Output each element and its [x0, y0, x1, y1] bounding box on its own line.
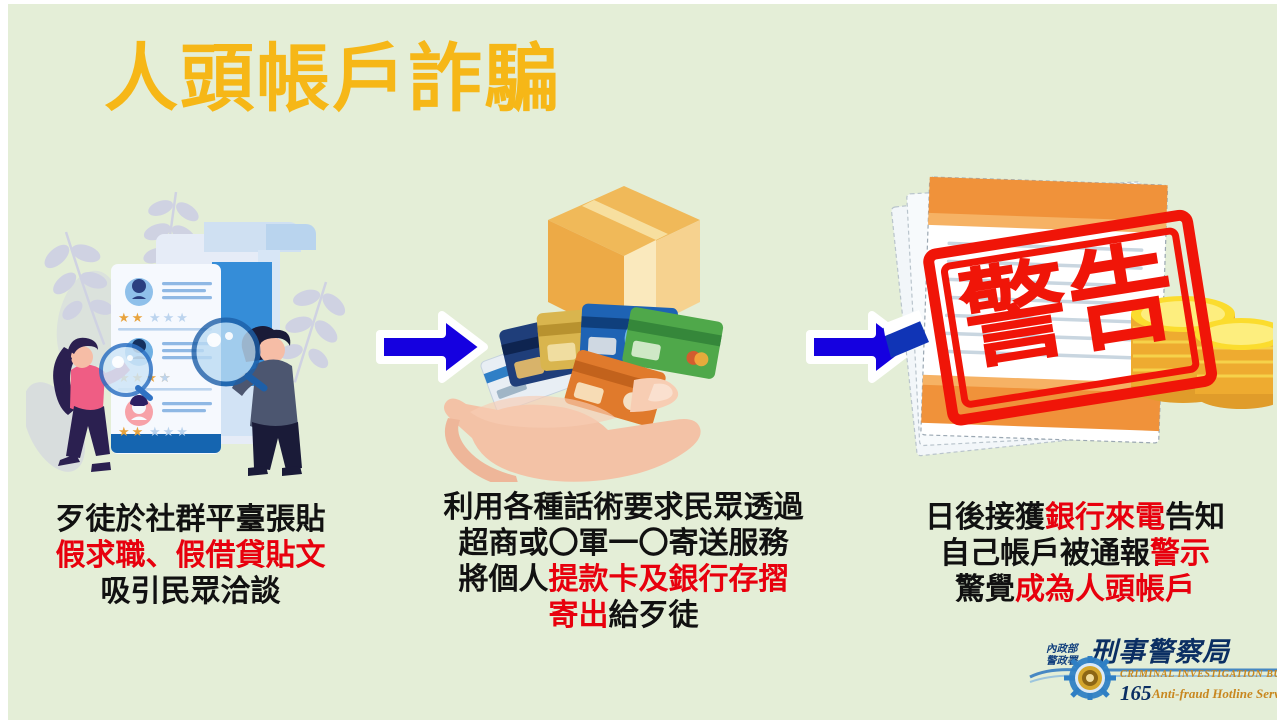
caption-line: 日後接獲銀行來電告知	[880, 500, 1270, 536]
star-rating-3: ★★ ★★★	[118, 424, 190, 439]
step-2-illustration	[428, 172, 818, 482]
logo-agency-main: 刑事警察局	[1089, 637, 1231, 668]
caption-line: 超商或〇軍一〇寄送服務	[406, 526, 841, 562]
step-3-caption: 日後接獲銀行來電告知 自己帳戶被通報警示 驚覺成為人頭帳戶	[880, 500, 1270, 608]
page-title: 人頭帳戶詐騙	[104, 37, 560, 121]
svg-text:★★: ★★	[118, 424, 145, 439]
social-media-review-illustration: ★★ ★★★ ★★★★ ★	[26, 172, 366, 482]
caption-line: 假求職、假借貸貼文	[18, 538, 363, 574]
caption-line: 歹徒於社群平臺張貼	[18, 502, 363, 538]
warning-stamp-documents-illustration: 警告	[883, 172, 1273, 472]
caption-line: 吸引民眾洽談	[18, 574, 363, 610]
slide-canvas: 人頭帳戶詐騙	[0, 0, 1280, 720]
cib-logo: 內政部 警政署 刑事警察局 CRIMINAL INVESTIGATION BUR…	[1028, 632, 1280, 714]
logo-agency-line1: 內政部	[1046, 642, 1080, 655]
step-1-illustration: ★★ ★★★ ★★★★ ★	[26, 172, 366, 482]
svg-text:★★★: ★★★	[149, 310, 190, 325]
logo-hotline-number: 165	[1120, 681, 1152, 705]
logo-hotline-text: Anti-fraud Hotline Service	[1151, 686, 1280, 701]
criminal-investigation-bureau-logo: 內政部 警政署 刑事警察局 CRIMINAL INVESTIGATION BUR…	[1028, 632, 1280, 714]
caption-line: 自己帳戶被通報警示	[880, 536, 1270, 572]
star-rating-1: ★★ ★★★	[118, 310, 190, 325]
caption-line: 驚覺成為人頭帳戶	[880, 572, 1270, 608]
magnifier-icon	[101, 345, 151, 398]
step-3-illustration: 警告	[883, 172, 1273, 472]
step-2-caption: 利用各種話術要求民眾透過 超商或〇軍一〇寄送服務 將個人提款卡及銀行存摺 寄出給…	[406, 490, 841, 634]
parcel-and-cards-illustration	[428, 172, 818, 482]
step-1-caption: 歹徒於社群平臺張貼 假求職、假借貸貼文 吸引民眾洽談	[18, 502, 363, 610]
svg-text:★★★: ★★★	[149, 424, 190, 439]
caption-line: 寄出給歹徒	[406, 598, 841, 634]
caption-line: 將個人提款卡及銀行存摺	[406, 562, 841, 598]
logo-agency-english: CRIMINAL INVESTIGATION BUREAU	[1120, 669, 1280, 680]
caption-line: 利用各種話術要求民眾透過	[406, 490, 841, 526]
svg-text:★: ★	[159, 370, 171, 385]
police-badge-icon	[1064, 656, 1116, 700]
svg-text:★★: ★★	[118, 310, 145, 325]
